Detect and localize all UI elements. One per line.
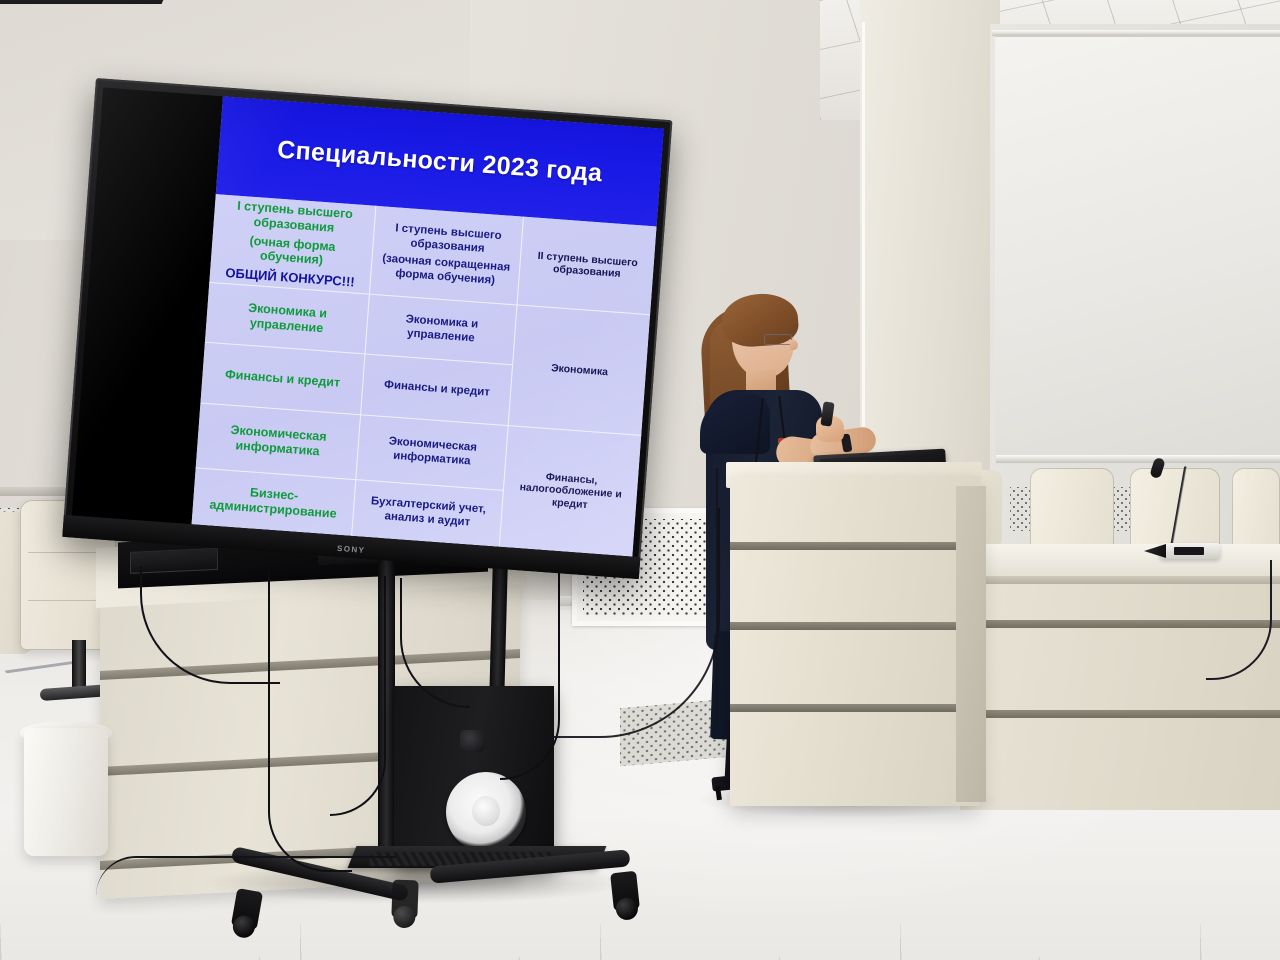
table-cell: Экономика (509, 306, 650, 436)
podium-band (730, 542, 980, 550)
television: Специальности 2023 года I ступень высшег… (62, 78, 672, 579)
table-header-cell: I ступень высшего образования (очная фор… (209, 194, 375, 295)
table-column-1: I ступень высшего образования (очная фор… (192, 194, 377, 536)
speaker-tweeter-icon (460, 730, 484, 752)
whiteboard-tray (996, 455, 1280, 463)
table-cell: Экономическая информатика (196, 404, 361, 480)
chair (1232, 468, 1280, 550)
table-cell: Финансы, налогообложение и кредит (500, 426, 641, 556)
podium-band (730, 622, 980, 630)
av-cable (330, 576, 386, 816)
slide-title: Специальности 2023 года (276, 135, 603, 188)
cell-line: Финансы и кредит (384, 379, 491, 400)
glasses-icon (764, 334, 792, 345)
lectern (730, 476, 980, 806)
waste-bin (24, 728, 108, 856)
table-cell: Финансы и кредит (200, 343, 364, 416)
table-header-cell: II ступень высшего образования (518, 217, 657, 316)
table-cell: Экономика и управление (366, 295, 517, 365)
whiteboard (995, 34, 1280, 464)
table-column-3: II ступень высшего образования Экономика… (500, 217, 656, 557)
chair-gas-lift (72, 640, 86, 692)
cell-line: кредит (551, 496, 588, 511)
speaker-dust-cap (472, 796, 500, 826)
table-column-2: I ступень высшего образования (заочная с… (352, 206, 524, 547)
podium-band (730, 704, 980, 712)
floor-cable (96, 856, 396, 896)
presentation-slide: Специальности 2023 года I ступень высшег… (192, 96, 664, 556)
speaker-top (0, 0, 170, 4)
tv-brand-logo: SONY (337, 544, 366, 555)
slide-table: I ступень высшего образования (очная фор… (192, 194, 657, 556)
cabinet-band (960, 710, 1280, 718)
podium-side-panel (956, 486, 986, 802)
presenter-nose (790, 340, 798, 350)
tv-screen: Специальности 2023 года I ступень высшег… (72, 88, 664, 557)
cart-caster (610, 871, 640, 912)
cell-line: Экономика (551, 362, 609, 379)
conference-microphone[interactable] (1160, 543, 1220, 559)
table-cell: Экономическая информатика (357, 416, 508, 491)
table-cell: Финансы и кредит (361, 354, 512, 426)
chair (1130, 468, 1220, 550)
lecture-hall-scene: Специальности 2023 года I ступень высшег… (0, 0, 1280, 960)
cell-line: Финансы и кредит (225, 367, 341, 390)
table-header-cell: I ступень высшего образования (заочная с… (370, 206, 523, 306)
chair (1030, 468, 1114, 550)
